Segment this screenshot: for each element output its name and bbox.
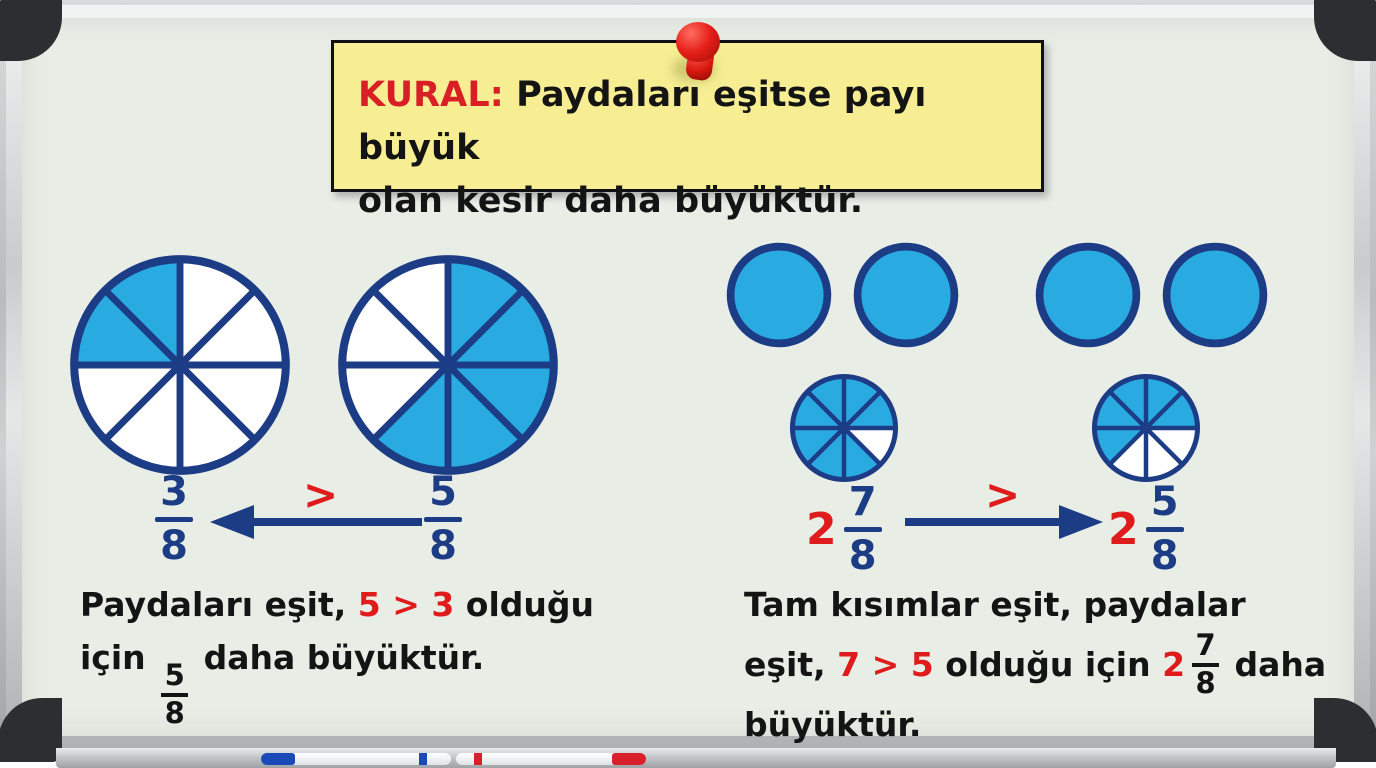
fraction-label-3-8: 3 8 [155,472,193,566]
whiteboard-scene: KURAL: Paydaları eşitse payı büyük olan … [0,0,1376,768]
fraction-numerator: 7 [849,482,877,522]
inline-fraction-numerator: 5 [165,661,185,690]
whole-circle-right-1 [1033,240,1143,350]
whole-circle-right-2 [1160,240,1270,350]
fraction-numerator: 5 [1151,482,1179,522]
explain-part1: Paydaları eşit, [80,585,358,624]
mixed-number-label-2-7-8: 2 7 8 [806,482,882,576]
explain-line1: Tam kısımlar eşit, paydalar [744,585,1246,624]
fraction-numerator: 5 [429,472,457,512]
inline-mixed-number-2-7-8: 278 [1162,631,1223,698]
rule-keyword: KURAL: [358,75,504,115]
fraction-denominator: 8 [849,536,877,576]
marker-red [456,753,646,765]
inline-fraction-denominator: 8 [1195,669,1215,698]
inline-fraction-5-8: 58 [161,661,188,728]
mixed-number-label-2-5-8: 2 5 8 [1108,482,1184,576]
rule-line2: olan kesir daha büyüktür. [358,181,863,221]
fraction-label-5-8: 5 8 [424,472,462,566]
mixed-fraction-part: 7 8 [844,482,882,576]
arrow-left-icon [208,505,426,539]
explain-part1: eşit, [744,645,837,684]
explanation-right: Tam kısımlar eşit, paydalar eşit, 7 > 5 … [744,578,1354,752]
explanation-left: Paydaları eşit, 5 > 3 olduğu için 58 dah… [80,578,660,728]
marker-band [474,753,482,765]
marker-blue [261,753,451,765]
fraction-numerator: 3 [160,472,188,512]
pie-chart-5-8 [333,250,563,480]
explain-part3: daha [1223,645,1326,684]
explain-part2: olduğu için [934,645,1162,684]
explain-compare: 5 > 3 [358,585,455,624]
explain-part3: için [80,638,157,677]
explain-part4: daha büyüktür. [192,638,484,677]
explain-line3: büyüktür. [744,705,921,744]
pushpin-head [676,22,720,62]
fraction-denominator: 8 [1151,536,1179,576]
fraction-denominator: 8 [160,526,188,566]
fraction-bar [424,517,462,522]
fraction-denominator: 8 [429,526,457,566]
arrow-right-icon [905,505,1105,539]
mixed-fraction-part: 5 8 [1146,482,1184,576]
inline-whole-part: 2 [1162,638,1185,691]
fraction-bar [844,527,882,532]
inline-fraction-denominator: 8 [165,699,185,728]
mixed-whole-part: 2 [806,504,837,555]
fraction-bar [155,517,193,522]
marker-cap [612,753,646,765]
explain-part2: olduğu [454,585,594,624]
mixed-whole-part: 2 [1108,504,1139,555]
pie-chart-3-8 [65,250,295,480]
pie-chart-5-8-small [1090,372,1202,484]
explain-compare: 7 > 5 [837,645,934,684]
whole-circle-left-2 [851,240,961,350]
marker-cap [261,753,295,765]
pie-chart-7-8 [788,372,900,484]
whole-circle-left-1 [724,240,834,350]
inline-fraction-7-8: 78 [1192,631,1219,698]
inline-fraction-numerator: 7 [1195,631,1215,660]
fraction-bar [1146,527,1184,532]
marker-band [419,753,427,765]
pushpin-icon [668,22,730,86]
